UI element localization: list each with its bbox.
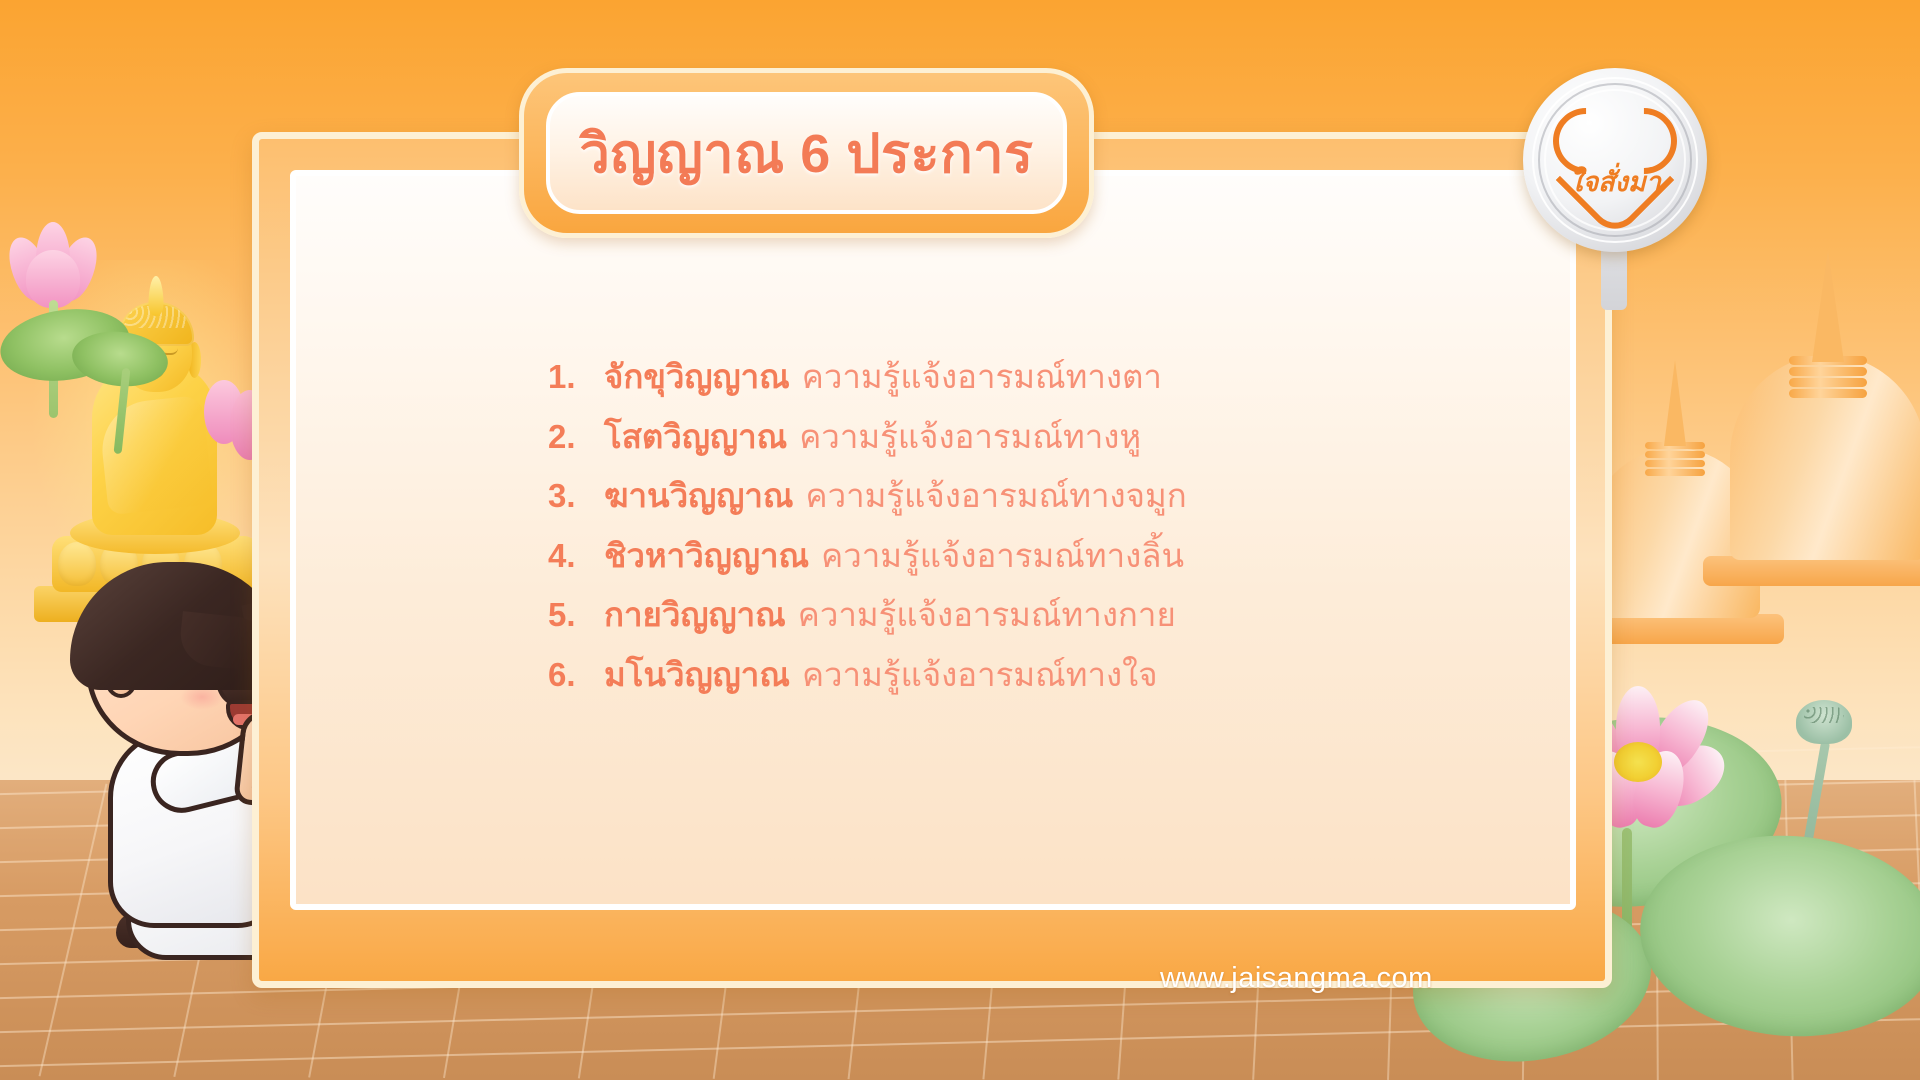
pagoda-spire xyxy=(1664,360,1686,446)
list-item-description: ความรู้แจ้งอารมณ์ทางจมูก xyxy=(806,477,1187,515)
list-item-number: 1. xyxy=(548,358,592,396)
list-item-description: ความรู้แจ้งอารมณ์ทางตา xyxy=(802,358,1162,396)
list-item: 1.จักขุวิญญาณความรู้แจ้งอารมณ์ทางตา xyxy=(548,358,1488,396)
list-item-number: 6. xyxy=(548,656,592,694)
orange-pagoda-large xyxy=(1730,250,1920,560)
pagoda-spire xyxy=(1812,250,1844,362)
list-item-term: จักขุวิญญาณ xyxy=(604,358,790,396)
list-item: 3.ฆานวิญญาณความรู้แจ้งอารมณ์ทางจมูก xyxy=(548,477,1488,515)
list-item: 6.มโนวิญญาณความรู้แจ้งอารมณ์ทางใจ xyxy=(548,656,1488,694)
floor-line xyxy=(0,1011,1920,1072)
brand-logo-badge[interactable]: ใจสั่งมา xyxy=(1515,60,1715,290)
list-item-description: ความรู้แจ้งอารมณ์ทางหู xyxy=(799,418,1141,456)
list-item-number: 2. xyxy=(548,418,592,456)
list-item: 4.ชิวหาวิญญาณความรู้แจ้งอารมณ์ทางลิ้น xyxy=(548,537,1488,575)
poster-canvas: วิญญาณ 6 ประการ 1.จักขุวิญญาณความรู้แจ้ง… xyxy=(0,0,1920,1080)
list-item-number: 5. xyxy=(548,596,592,634)
list-item-description: ความรู้แจ้งอารมณ์ทางลิ้น xyxy=(821,537,1184,575)
lotus-center xyxy=(1614,742,1662,782)
list-item-term: โสตวิญญาณ xyxy=(604,418,787,456)
list-item: 2.โสตวิญญาณความรู้แจ้งอารมณ์ทางหู xyxy=(548,418,1488,456)
list-item-term: มโนวิญญาณ xyxy=(604,656,790,694)
page-title: วิญญาณ 6 ประการ xyxy=(579,110,1033,196)
pagoda-plinth xyxy=(1703,556,1920,586)
consciousness-list: 1.จักขุวิญญาณความรู้แจ้งอารมณ์ทางตา2.โสต… xyxy=(548,358,1488,716)
brand-name: ใจสั่งมา xyxy=(1545,160,1685,203)
list-item: 5.กายวิญญาณความรู้แจ้งอารมณ์ทางกาย xyxy=(548,596,1488,634)
website-url[interactable]: www.jaisangma.com xyxy=(1160,962,1433,995)
list-item-term: ฆานวิญญาณ xyxy=(604,477,794,515)
list-item-number: 4. xyxy=(548,537,592,575)
list-item-description: ความรู้แจ้งอารมณ์ทางกาย xyxy=(798,596,1176,634)
list-item-number: 3. xyxy=(548,477,592,515)
silver-badge-circle: ใจสั่งมา xyxy=(1523,68,1707,252)
list-item-term: กายวิญญาณ xyxy=(604,596,786,634)
title-banner-inner: วิญญาณ 6 ประการ xyxy=(546,92,1067,214)
list-item-description: ความรู้แจ้งอารมณ์ทางใจ xyxy=(802,656,1158,694)
list-item-term: ชิวหาวิญญาณ xyxy=(604,537,809,575)
lotus-seed-pod xyxy=(1796,700,1852,744)
